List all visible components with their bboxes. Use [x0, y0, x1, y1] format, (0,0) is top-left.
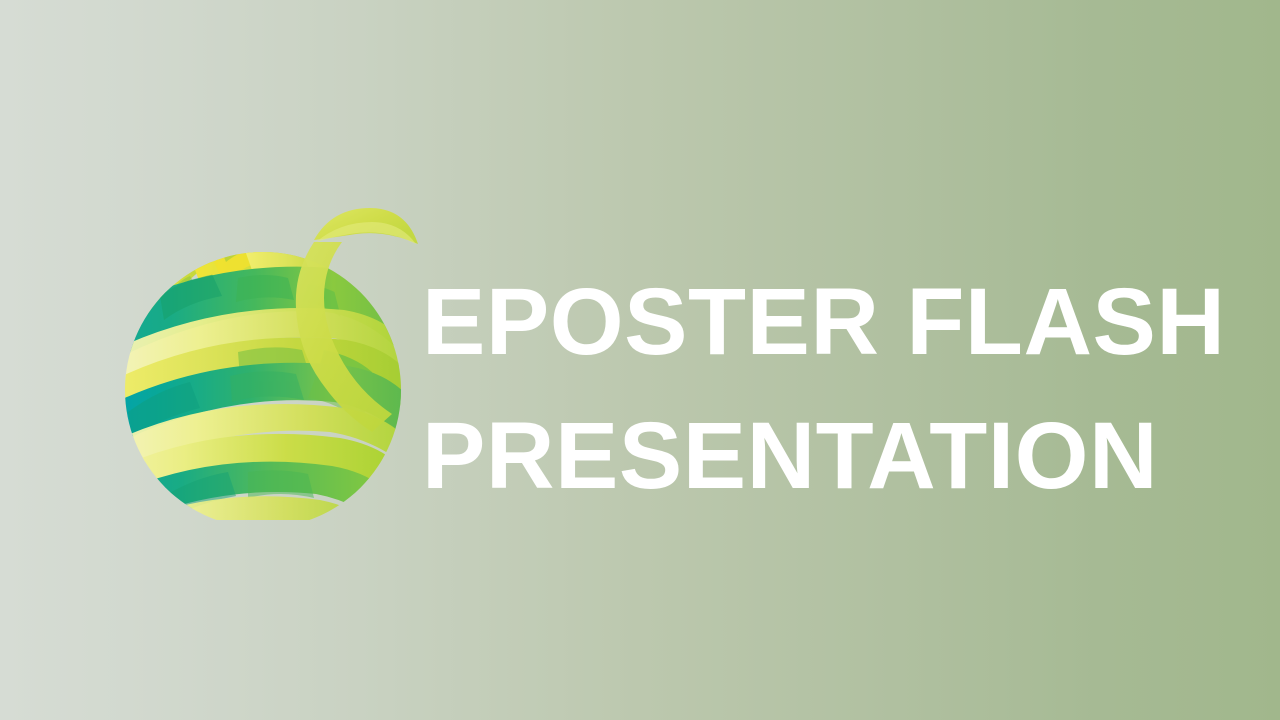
spiral-ribbon-globe-icon	[118, 200, 418, 520]
page-title-line-2: PRESENTATION	[422, 389, 1222, 523]
page-title-line-1: EPOSTER FLASH	[422, 255, 1222, 389]
logo	[118, 200, 418, 520]
slide-canvas: EPOSTER FLASH PRESENTATION	[0, 0, 1280, 720]
title-block: EPOSTER FLASH PRESENTATION	[422, 255, 1222, 523]
